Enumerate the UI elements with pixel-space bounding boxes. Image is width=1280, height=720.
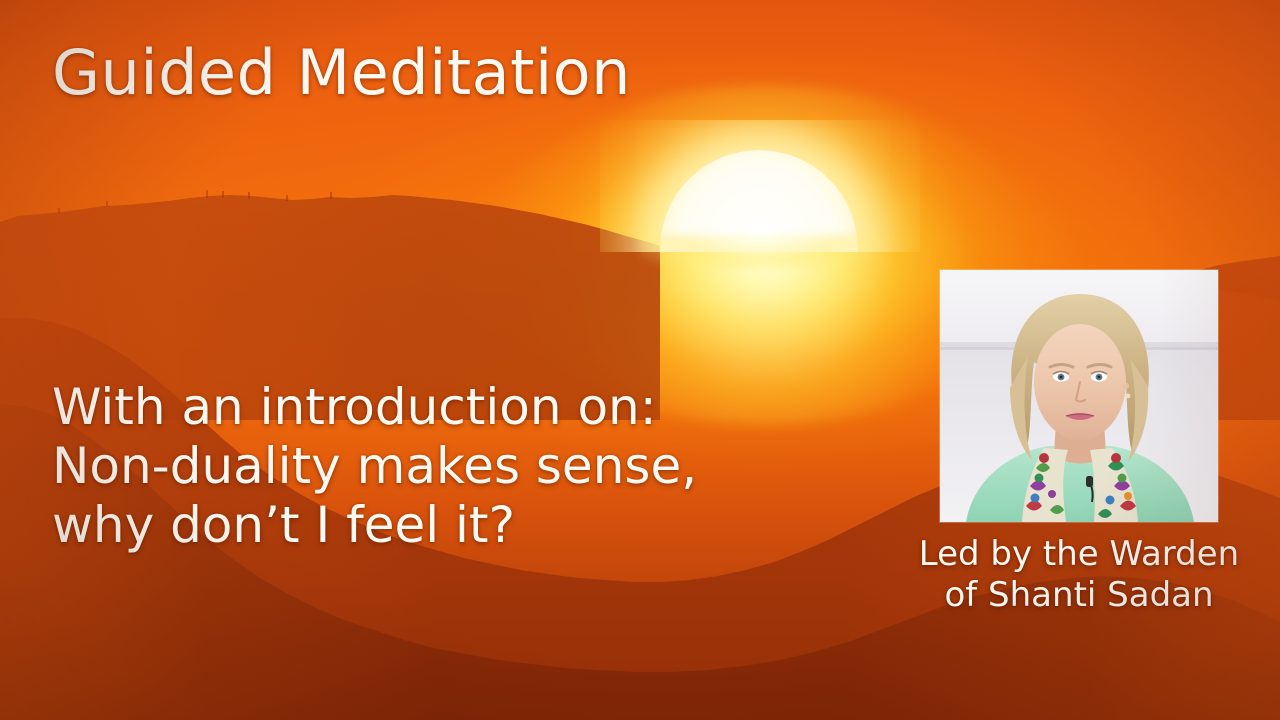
credit-line-1: Led by the Warden (898, 534, 1260, 575)
page-title: Guided Meditation (52, 36, 631, 109)
title-slide: Guided Meditation With an introduction o… (0, 0, 1280, 720)
presenter-portrait (940, 270, 1218, 522)
subtitle-block: With an introduction on: Non-duality mak… (52, 378, 697, 555)
subtitle-line-1: With an introduction on: (52, 378, 697, 437)
subtitle-line-2: Non-duality makes sense, (52, 437, 697, 496)
portrait-illustration (940, 270, 1218, 522)
subtitle-line-3: why don’t I feel it? (52, 496, 697, 555)
credit-line-2: of Shanti Sadan (898, 575, 1260, 616)
sun-horizon-glow (640, 236, 880, 270)
presenter-credit: Led by the Warden of Shanti Sadan (898, 534, 1260, 616)
setting-sun (600, 120, 920, 252)
